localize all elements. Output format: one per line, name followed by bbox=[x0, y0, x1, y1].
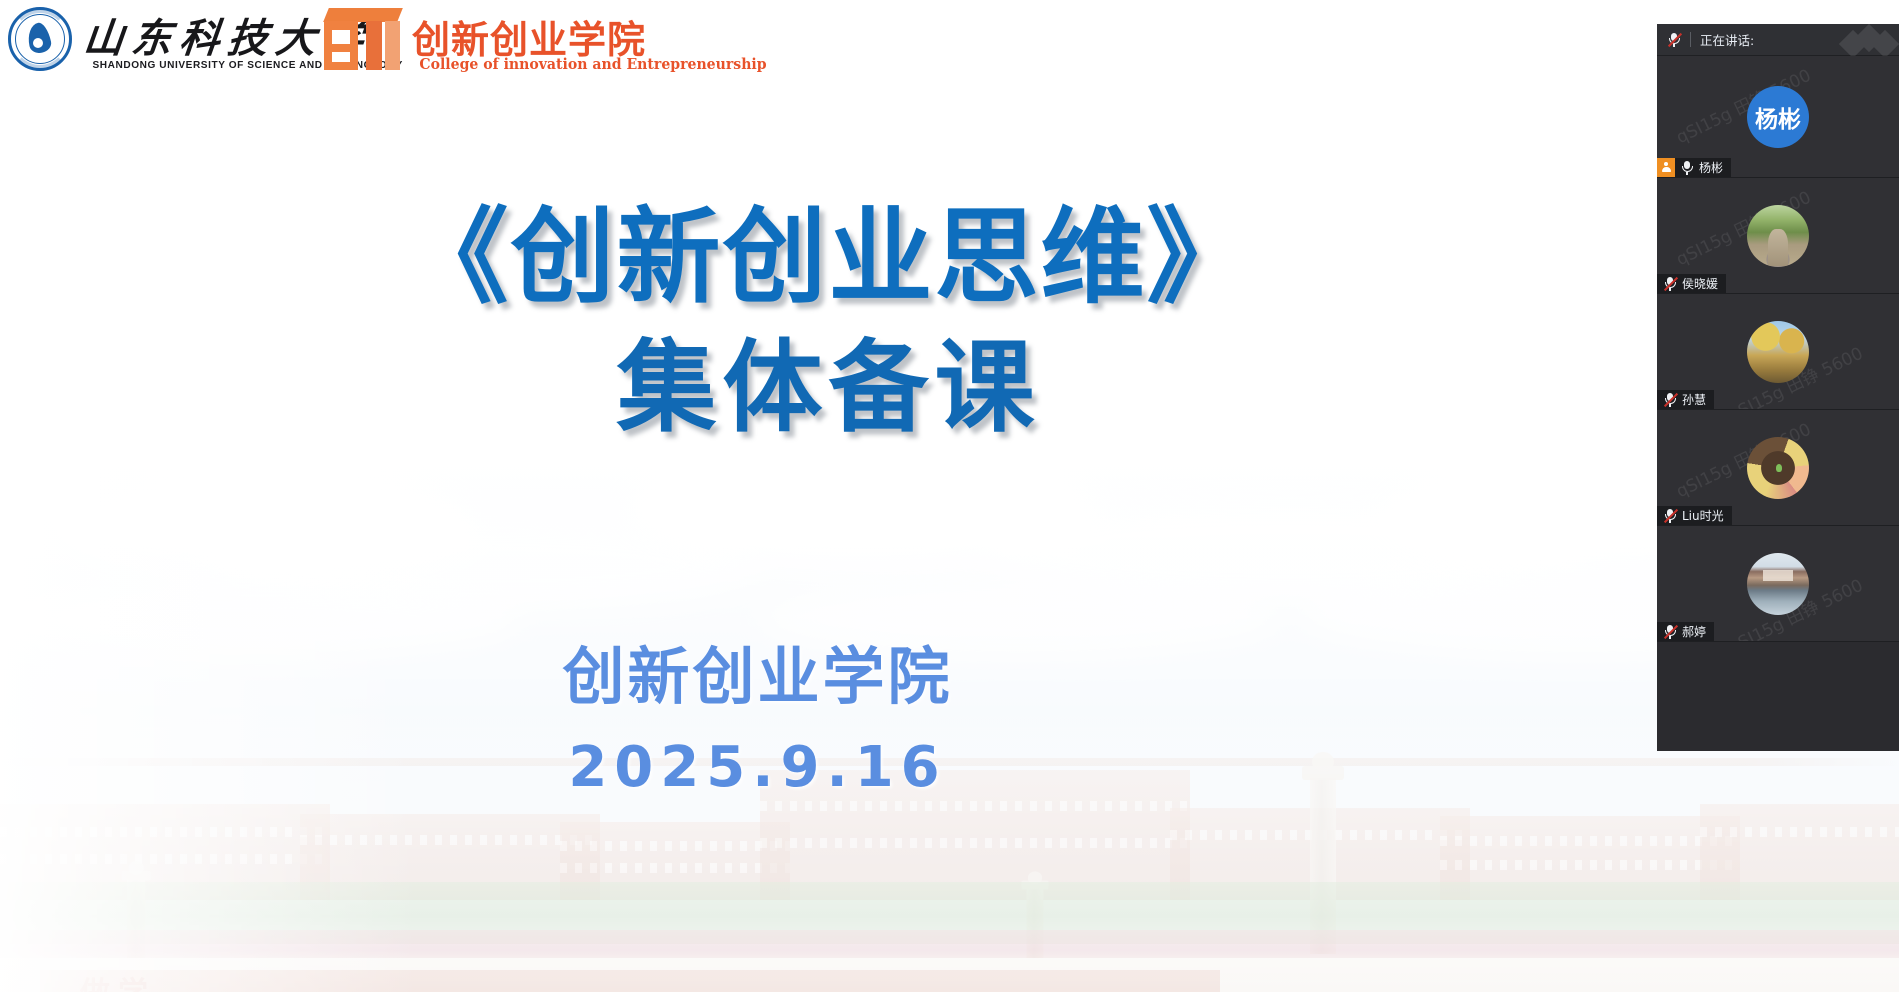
mic-muted-icon[interactable] bbox=[1663, 624, 1677, 639]
college-logo-icon bbox=[322, 8, 404, 70]
participant-name: 侯晓媛 bbox=[1682, 275, 1718, 292]
slide-subtitle: 集体备课 bbox=[0, 337, 1657, 437]
presentation-slide: 做学，，， 山东科技大学 SHANDONG UNIVERSITY OF SCIE… bbox=[0, 0, 1899, 992]
photo-left-fade bbox=[0, 430, 420, 992]
participant-tile[interactable]: qSI15g 田铮 5600 杨彬 杨彬 bbox=[1657, 56, 1899, 178]
shandong-university-seal-icon bbox=[6, 5, 74, 75]
mic-muted-icon[interactable] bbox=[1667, 32, 1681, 47]
avatar bbox=[1747, 321, 1809, 383]
participant-name-badge: 侯晓媛 bbox=[1657, 274, 1726, 293]
footer-date: 2025.9.16 bbox=[0, 740, 1515, 796]
speaking-label: 正在讲话: bbox=[1700, 30, 1754, 49]
participant-tile[interactable]: qSI15g 田铮 5600 孙慧 bbox=[1657, 294, 1899, 410]
participant-name: 杨彬 bbox=[1699, 159, 1723, 176]
divider bbox=[1690, 32, 1691, 47]
participant-name-badge: Liu时光 bbox=[1657, 506, 1732, 525]
host-person-icon bbox=[1657, 158, 1675, 177]
mic-muted-icon[interactable] bbox=[1663, 392, 1677, 407]
participant-name-badge: 郝婷 bbox=[1657, 622, 1714, 641]
app-watermark-icon bbox=[1841, 26, 1899, 54]
footer-organization: 创新创业学院 bbox=[0, 646, 1515, 708]
mic-muted-icon[interactable] bbox=[1663, 276, 1677, 291]
avatar bbox=[1747, 553, 1809, 615]
participant-tile[interactable]: qSI15g 田铮 5600 侯晓媛 bbox=[1657, 178, 1899, 294]
logo-row: 山东科技大学 SHANDONG UNIVERSITY OF SCIENCE AN… bbox=[0, 0, 640, 82]
mic-on-icon[interactable] bbox=[1680, 160, 1694, 175]
participant-name-badge: 孙慧 bbox=[1657, 390, 1714, 409]
participant-name: 郝婷 bbox=[1682, 623, 1706, 640]
mic-muted-icon[interactable] bbox=[1663, 508, 1677, 523]
college-name-en: College of innovation and Entrepreneursh… bbox=[419, 56, 766, 73]
slide-title: 《创新创业思维》 bbox=[0, 205, 1657, 309]
participant-name-badge: 杨彬 bbox=[1657, 158, 1731, 177]
video-conference-panel: 正在讲话: qSI15g 田铮 5600 杨彬 杨彬 qSI15g 田铮 560… bbox=[1657, 24, 1899, 751]
panel-top-bar: 正在讲话: bbox=[1657, 24, 1899, 56]
participant-name: Liu时光 bbox=[1682, 507, 1724, 524]
avatar bbox=[1747, 205, 1809, 267]
participant-tile[interactable]: qSI15g 田铮 5600 Liu时光 bbox=[1657, 410, 1899, 526]
avatar bbox=[1747, 437, 1809, 499]
avatar: 杨彬 bbox=[1747, 86, 1809, 148]
screen: 做学，，， 山东科技大学 SHANDONG UNIVERSITY OF SCIE… bbox=[0, 0, 1899, 992]
participant-tile[interactable]: qSI15g 田铮 5600 郝婷 bbox=[1657, 526, 1899, 642]
participant-name: 孙慧 bbox=[1682, 391, 1706, 408]
